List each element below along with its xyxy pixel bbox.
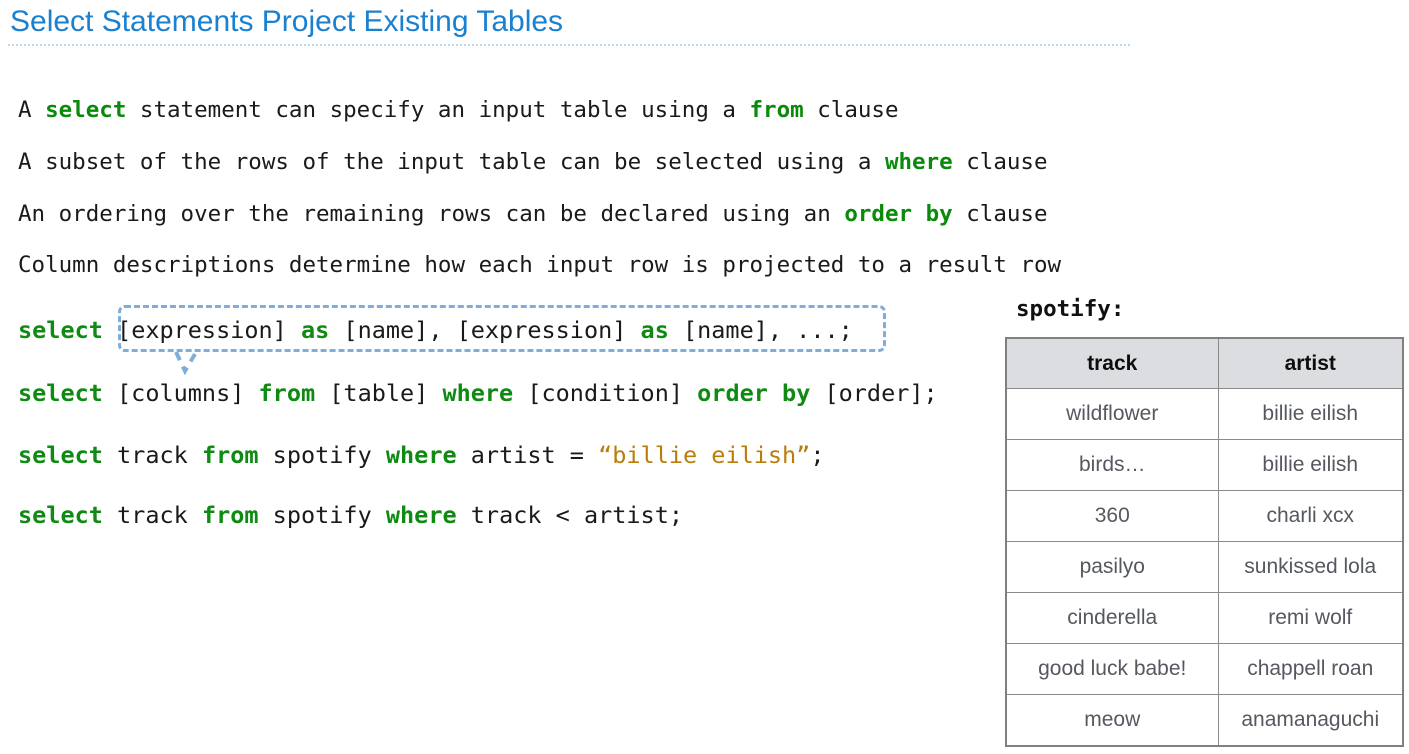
sql-keyword: select [18,501,103,529]
code-select-billie: select track from spotify where artist =… [18,441,825,469]
cell-track: wildflower [1006,389,1218,440]
table-caption: spotify: [1016,296,1124,322]
sql-keyword: from [202,501,259,529]
text-run: ; [810,441,824,469]
text-run: [expression] [117,316,301,344]
sql-keyword: from [259,379,316,407]
sql-keyword: where [442,379,513,407]
text-run: track [103,501,202,529]
column-header-artist: artist [1218,338,1403,389]
sql-keyword: select [18,441,103,469]
text-run: [table] [315,379,442,407]
text-run: spotify [259,441,386,469]
cell-artist: charli xcx [1218,491,1403,542]
table-row: meowanamanaguchi [1006,695,1403,747]
bullet-where: A subset of the rows of the input table … [18,149,1048,175]
text-run: [condition] [513,379,697,407]
code-select-template: select [columns] from [table] where [con… [18,379,938,407]
column-header-track: track [1006,338,1218,389]
cell-artist: chappell roan [1218,644,1403,695]
text-run: A subset of the rows of the input table … [18,149,885,175]
table-row: good luck babe!chappell roan [1006,644,1403,695]
cell-track: pasilyo [1006,542,1218,593]
text-run: [name], ...; [669,316,853,344]
table-row: cinderellaremi wolf [1006,593,1403,644]
table-row: 360charli xcx [1006,491,1403,542]
code-select-expression: select [expression] as [name], [expressi… [18,316,853,344]
text-run: statement can specify an input table usi… [126,97,749,123]
sql-keyword: from [202,441,259,469]
cell-track: birds… [1006,440,1218,491]
cell-track: cinderella [1006,593,1218,644]
bullet-order-by: An ordering over the remaining rows can … [18,201,1048,227]
text-run: track [103,441,202,469]
text-run: clause [804,97,899,123]
sql-keyword: as [301,316,329,344]
sql-keyword: select [18,379,103,407]
text-run: [name], [expression] [329,316,640,344]
cell-track: meow [1006,695,1218,747]
text-run: clause [953,201,1048,227]
text-run: spotify [259,501,386,529]
sql-keyword: where [386,501,457,529]
cell-track: 360 [1006,491,1218,542]
callout-tail-icon [172,351,198,375]
table-row: wildflowerbillie eilish [1006,389,1403,440]
sql-keyword: order by [697,379,810,407]
text-run: A [18,97,45,123]
table-row: birds…billie eilish [1006,440,1403,491]
text-run: track < artist; [457,501,683,529]
bullet-from: A select statement can specify an input … [18,97,899,123]
bullet-columns: Column descriptions determine how each i… [18,252,1061,278]
text-run: clause [953,149,1048,175]
sql-keyword: as [641,316,669,344]
text-run: [columns] [103,379,259,407]
sql-keyword: order by [844,201,952,227]
sql-string-literal: “billie eilish” [598,441,810,469]
text-run: Column descriptions determine how each i… [18,252,1061,278]
text-run: [order]; [810,379,937,407]
page-title: Select Statements Project Existing Table… [10,5,563,39]
cell-artist: billie eilish [1218,389,1403,440]
title-divider [8,44,1130,46]
table-header-row: track artist [1006,338,1403,389]
sql-keyword: where [386,441,457,469]
text-run: An ordering over the remaining rows can … [18,201,844,227]
cell-artist: remi wolf [1218,593,1403,644]
table-row: pasilyosunkissed lola [1006,542,1403,593]
sql-keyword: from [750,97,804,123]
cell-artist: anamanaguchi [1218,695,1403,747]
sql-keyword: select [18,316,117,344]
cell-track: good luck babe! [1006,644,1218,695]
sql-keyword: where [885,149,953,175]
text-run: artist = [457,441,598,469]
cell-artist: billie eilish [1218,440,1403,491]
cell-artist: sunkissed lola [1218,542,1403,593]
spotify-table: track artist wildflowerbillie eilishbird… [1005,337,1404,747]
sql-keyword: select [45,97,126,123]
code-select-compare: select track from spotify where track < … [18,501,683,529]
